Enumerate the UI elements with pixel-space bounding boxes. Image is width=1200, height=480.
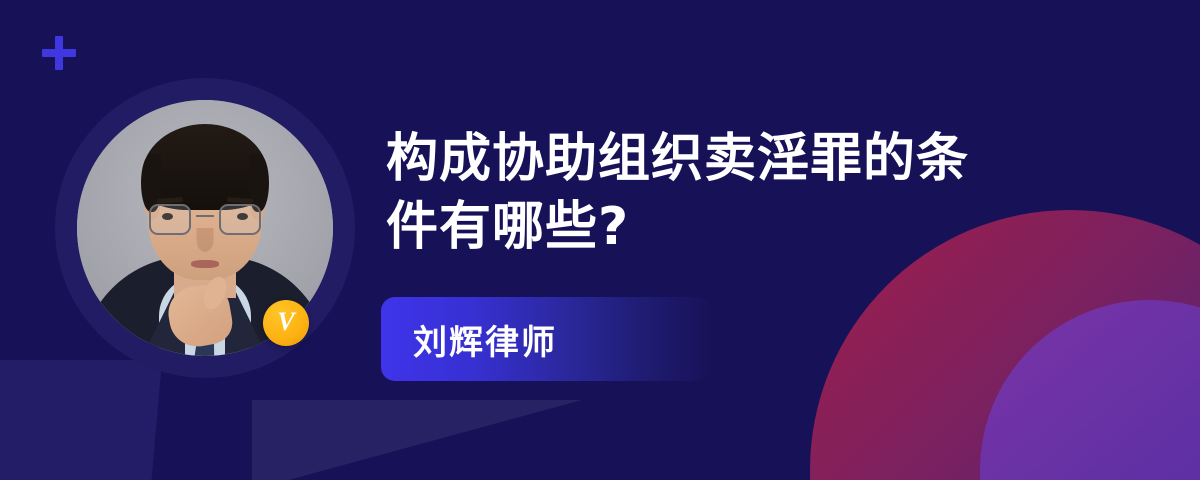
portrait-glasses-bridge — [196, 215, 214, 217]
verified-badge-glyph: V — [277, 309, 294, 335]
author-name-label: 刘辉律师 — [413, 315, 557, 364]
plus-icon-vertical-bar — [55, 36, 63, 70]
portrait-mouth — [191, 260, 219, 268]
verified-badge-icon: V — [263, 300, 309, 346]
page-title: 构成协助组织卖淫罪的条 件有哪些? — [386, 125, 1086, 261]
author-name-badge[interactable]: 刘辉律师 — [381, 297, 711, 381]
page-title-line-1: 构成协助组织卖淫罪的条 — [386, 125, 1086, 193]
portrait-glasses-left-lens — [149, 204, 191, 235]
portrait-glasses-right-lens — [219, 204, 261, 235]
page-title-line-2: 件有哪些? — [386, 193, 1086, 261]
avatar[interactable]: V — [55, 78, 355, 378]
plus-icon — [42, 36, 76, 70]
purple-gradient-circle — [980, 300, 1200, 480]
rectangle-shape — [0, 360, 162, 480]
article-banner: V 构成协助组织卖淫罪的条 件有哪些? 刘辉律师 — [0, 0, 1200, 480]
portrait-nose — [197, 228, 214, 252]
triangle-shape — [252, 400, 582, 480]
